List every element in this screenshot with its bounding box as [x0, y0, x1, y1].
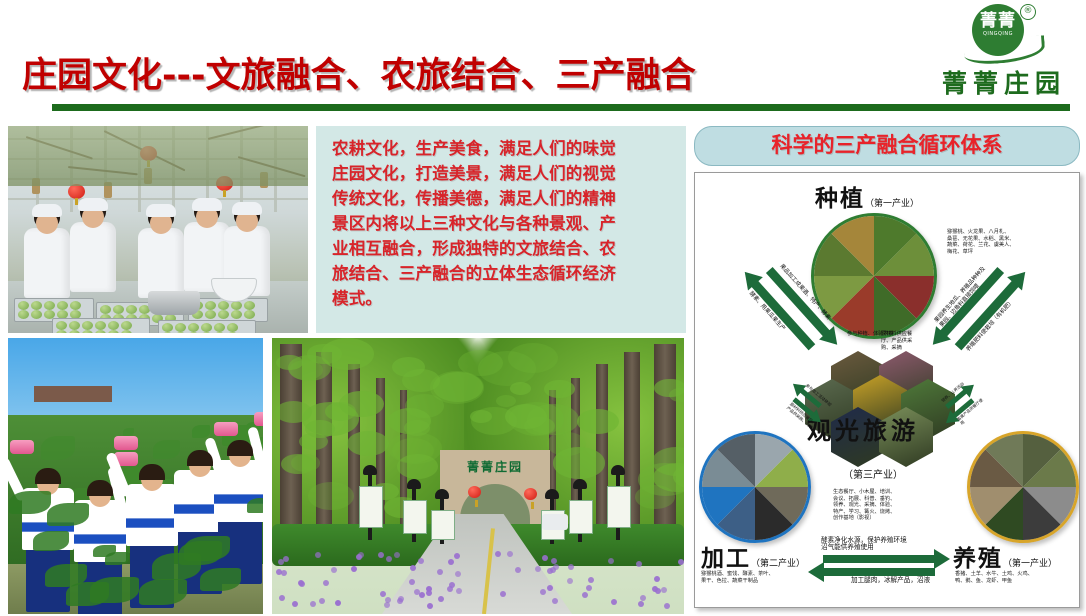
canopy-cluster: [544, 380, 575, 398]
lamp-post-5: [616, 474, 620, 540]
arrow-breed-to-process: [823, 568, 935, 576]
foliage-leaf: [153, 440, 180, 459]
canopy-cluster: [392, 357, 425, 377]
green-dumpling: [126, 305, 137, 314]
purple-flower: [319, 598, 325, 604]
girls-farmhouse-roof: [34, 386, 112, 402]
foliage-leaf: [41, 436, 75, 460]
green-dumpling: [113, 305, 124, 314]
lamp-post-2: [440, 498, 444, 544]
green-dumpling: [175, 332, 186, 333]
logo-mark-cn: 菁菁: [972, 4, 1024, 31]
girl-hair: [35, 468, 61, 484]
green-dumpling: [31, 310, 42, 319]
panel-header-label: 科学的三产融合循环体系: [695, 127, 1079, 164]
green-dumpling: [244, 310, 255, 319]
green-dumpling: [44, 301, 55, 310]
purple-flower: [454, 553, 460, 559]
list-tourism: 生态餐厅、小木屋、培训、 会议、拓展、科普、垂钓、 领养、观光、采摘、体验、 特…: [833, 489, 943, 522]
culture-line-6: 模式。: [332, 286, 672, 311]
worker-coat: [138, 228, 184, 298]
green-dumpling: [121, 321, 132, 330]
purple-flower: [414, 589, 420, 595]
front-foliage: [152, 553, 202, 580]
purple-flower: [588, 577, 594, 583]
lotus-basket: [114, 436, 138, 450]
green-dumpling: [82, 321, 93, 330]
lamp-head-icon: [611, 465, 625, 475]
worker-cap: [78, 198, 108, 211]
front-foliage: [9, 491, 51, 514]
front-foliage: [66, 582, 109, 605]
purple-flower: [449, 582, 455, 588]
purple-flower: [323, 580, 329, 586]
purple-flower: [358, 552, 364, 558]
purple-flower: [427, 603, 433, 609]
canopy-cluster: [321, 338, 374, 370]
girl-hair: [227, 440, 253, 456]
green-dumpling: [31, 301, 42, 310]
backdrop-fence: [8, 126, 308, 186]
purple-flower: [310, 601, 316, 607]
purple-flower: [298, 580, 304, 586]
purple-flower: [438, 596, 444, 602]
tree-trunk-right-0: [654, 344, 676, 544]
green-dumpling: [18, 310, 29, 319]
foliage-leaf: [192, 425, 210, 437]
dumpling-tray-4: [158, 320, 256, 333]
gate-lantern-0: [468, 486, 481, 498]
arrow-label-process-to-breed: 酵素净化水源，保护养殖环境 沼气能供养殖使用: [821, 537, 907, 551]
green-dumpling: [227, 323, 238, 332]
canopy-cluster: [275, 401, 312, 423]
lamp-head-icon: [573, 479, 587, 489]
lamp-post-0: [368, 474, 372, 540]
culture-line-2: 传统文化，传播美德，满足人们的精神: [332, 186, 672, 211]
green-dumpling: [100, 305, 111, 314]
wheel-planting: [811, 213, 937, 339]
culture-line-5: 旅结合、三产融合的立体生态循环经济: [332, 261, 672, 286]
dumpling-tray-3: [52, 318, 150, 333]
purple-flower: [582, 592, 588, 598]
green-dumpling: [188, 323, 199, 332]
green-dumpling: [56, 330, 67, 333]
purple-flower: [378, 552, 384, 558]
lamp-head-icon: [435, 489, 449, 499]
gate-lantern-1: [524, 488, 537, 500]
lamp-head-icon: [407, 479, 421, 489]
white-van: [542, 514, 568, 530]
culture-text-card: 农耕文化，生产美食，满足人们的味觉 庄园文化，打造美景，满足人们的视觉 传统文化…: [316, 126, 686, 333]
girl-hair: [87, 480, 113, 496]
green-dumpling: [95, 321, 106, 330]
green-dumpling: [201, 323, 212, 332]
green-dumpling: [108, 330, 119, 333]
lamp-post-4: [578, 488, 582, 542]
lamp-banner: [569, 500, 593, 534]
girl-hair: [139, 464, 165, 480]
lamp-banner: [431, 510, 455, 540]
green-dumpling: [231, 301, 242, 310]
green-dumpling: [214, 323, 225, 332]
purple-flower: [568, 564, 574, 570]
green-dumpling: [218, 310, 229, 319]
front-foliage: [33, 531, 69, 551]
photo-girls-harvest: [8, 338, 263, 614]
girl-hair: [187, 450, 213, 466]
brand-logo: 菁菁 QINGQING ® 菁菁庄园: [928, 2, 1080, 102]
list-breeding: 香猪、土羊、水牛、土鸡、火鸡、 鸭、鹅、鱼、龙虾、甲鱼: [955, 571, 1075, 584]
purple-flower: [410, 565, 416, 571]
arrow-process-to-breed: [823, 555, 935, 563]
purple-flower: [292, 601, 298, 607]
green-dumpling: [205, 301, 216, 310]
green-dumpling: [57, 301, 68, 310]
lotus-basket: [214, 422, 238, 436]
logo-wordmark: 菁菁庄园: [928, 64, 1080, 100]
green-dumpling: [201, 332, 212, 333]
front-foliage: [105, 552, 128, 565]
page-title: 庄园文化---文旅融合、农旅结合、三产融合: [22, 52, 702, 100]
node-title-breeding: 养殖（第一产业）: [953, 539, 1057, 573]
worker-coat: [70, 222, 116, 292]
arrows-planting-tourism: 参与种植、体验农耕 原材料供应餐厅、产品供采购、采摘: [847, 331, 917, 355]
purple-flower: [437, 569, 443, 575]
purple-flower: [315, 552, 321, 558]
logo-emblem: 菁菁 QINGQING ®: [958, 2, 1050, 62]
purple-flower: [394, 552, 400, 558]
lotus-basket: [10, 440, 34, 454]
green-dumpling: [214, 332, 225, 333]
green-dumpling: [69, 330, 80, 333]
girl-robe: [214, 460, 263, 522]
canopy-cluster: [347, 431, 389, 456]
title-divider: [52, 104, 1070, 111]
arrow-label-tour-to-plant: 原材料供应餐厅、产品供采购、采摘: [881, 331, 917, 352]
list-planting: 猕猴桃、火龙果、八月札、 桑葚、无花果、水稻、黑米、 蔬菜、荷花、兰花、虞美人、…: [947, 229, 1052, 255]
canopy-cluster: [654, 379, 684, 398]
gate-sign-text: 菁菁庄园: [456, 460, 534, 474]
lamp-banner: [403, 500, 427, 534]
canopy-cluster: [496, 395, 516, 407]
green-dumpling: [108, 321, 119, 330]
purple-flower: [586, 585, 592, 591]
lotus-basket: [254, 412, 263, 426]
purple-flower: [397, 598, 403, 604]
canopy-cluster: [308, 482, 355, 510]
worker-cap: [192, 198, 222, 211]
canopy-cluster: [392, 438, 434, 463]
purple-flower: [283, 556, 289, 562]
green-dumpling: [82, 330, 93, 333]
green-dumpling: [231, 310, 242, 319]
purple-flower: [547, 585, 553, 591]
green-dumpling: [56, 321, 67, 330]
node-title-processing: 加工（第二产业）: [701, 539, 805, 573]
arrows-processing-breeding: 酵素净化水源，保护养殖环境 沼气能供养殖使用 加工腿肉，冰解产品，沼液: [815, 541, 965, 575]
purple-flower: [385, 597, 391, 603]
lamp-head-icon: [545, 489, 559, 499]
green-dumpling: [188, 332, 199, 333]
purple-flower: [331, 567, 337, 573]
worker-2: [138, 202, 184, 297]
lamp-banner: [607, 486, 631, 528]
canopy-cluster: [433, 372, 483, 402]
purple-flower: [455, 571, 461, 577]
front-foliage: [139, 579, 187, 605]
purple-flower: [281, 570, 287, 576]
purple-flower: [611, 599, 617, 605]
node-industry-tourism: （第三产业）: [813, 471, 933, 481]
arrows-planting-breeding: 果园养生地瓜、养殖品种种及 果园、边角料直接饲喂 养殖肥料使栽培（有机肥）: [930, 257, 1033, 366]
purple-flower: [278, 559, 284, 565]
purple-flower: [515, 567, 521, 573]
photo-kitchen: [8, 126, 308, 333]
green-dumpling: [95, 330, 106, 333]
green-dumpling: [227, 332, 238, 333]
purple-flower: [448, 559, 454, 565]
worker-cap: [32, 204, 62, 217]
girl-robe: [126, 484, 178, 546]
slide-root: 庄园文化---文旅融合、农旅结合、三产融合 菁菁 QINGQING ® 菁菁庄园…: [0, 0, 1086, 616]
front-foliage: [247, 498, 263, 513]
registered-icon: ®: [1020, 4, 1036, 20]
culture-line-3: 景区内将以上三种文化与各种景观、产: [332, 211, 672, 236]
canopy-cluster: [553, 447, 605, 478]
green-dumpling: [18, 301, 29, 310]
worker-1: [70, 196, 116, 291]
green-dumpling: [162, 332, 173, 333]
canopy-cluster: [505, 404, 547, 429]
purple-flower: [386, 556, 392, 562]
green-dumpling: [244, 301, 255, 310]
purple-flower: [550, 567, 556, 573]
green-dumpling: [70, 301, 81, 310]
node-title-planting: 种植（第一产业）: [815, 179, 919, 213]
purple-flower: [638, 601, 644, 607]
wheel-processing: [699, 431, 811, 543]
lamp-post-1: [412, 488, 416, 542]
green-dumpling: [69, 321, 80, 330]
lamp-banner: [359, 486, 383, 528]
green-dumpling: [205, 310, 216, 319]
worker-cap: [146, 204, 176, 217]
culture-line-0: 农耕文化，生产美食，满足人们的味觉: [332, 136, 672, 161]
culture-line-4: 业相互融合，形成独特的文旅结合、农: [332, 236, 672, 261]
canopy-cluster: [577, 409, 619, 434]
purple-flower: [418, 558, 424, 564]
kitchen-scene: [8, 126, 308, 186]
purple-flower: [409, 579, 415, 585]
canopy-cluster: [635, 485, 674, 509]
green-dumpling: [162, 323, 173, 332]
panel-header: 科学的三产融合循环体系: [694, 126, 1080, 166]
green-dumpling: [218, 301, 229, 310]
wheel-breeding: [967, 431, 1079, 543]
three-industry-cycle-diagram: 种植（第一产业） 猕猴桃、火龙果、八月札、 桑葚、无花果、水稻、黑米、 蔬菜、荷…: [694, 172, 1080, 608]
cooking-pot: [148, 291, 200, 315]
canopy-cluster: [291, 454, 321, 472]
lamp-head-icon: [363, 465, 377, 475]
worker-0: [24, 202, 70, 297]
worker-cap: [232, 202, 262, 215]
canopy-cluster: [276, 355, 303, 371]
worker-coat: [24, 228, 70, 298]
leaf-icon: [963, 35, 1046, 66]
green-dumpling: [121, 330, 132, 333]
photo-entrance-avenue: 菁菁庄园: [272, 338, 684, 614]
culture-line-1: 庄园文化，打造美景，满足人们的视觉: [332, 161, 672, 186]
green-dumpling: [175, 323, 186, 332]
purple-flower: [608, 558, 614, 564]
arrow-label-breed-to-process: 加工腿肉，冰解产品，沼液: [851, 577, 930, 584]
list-processing: 猕猴桃酒、蜜饯、酵素、茶叶、 果干、色拉、蔬菜干制品: [701, 571, 819, 584]
front-foliage: [47, 503, 89, 526]
